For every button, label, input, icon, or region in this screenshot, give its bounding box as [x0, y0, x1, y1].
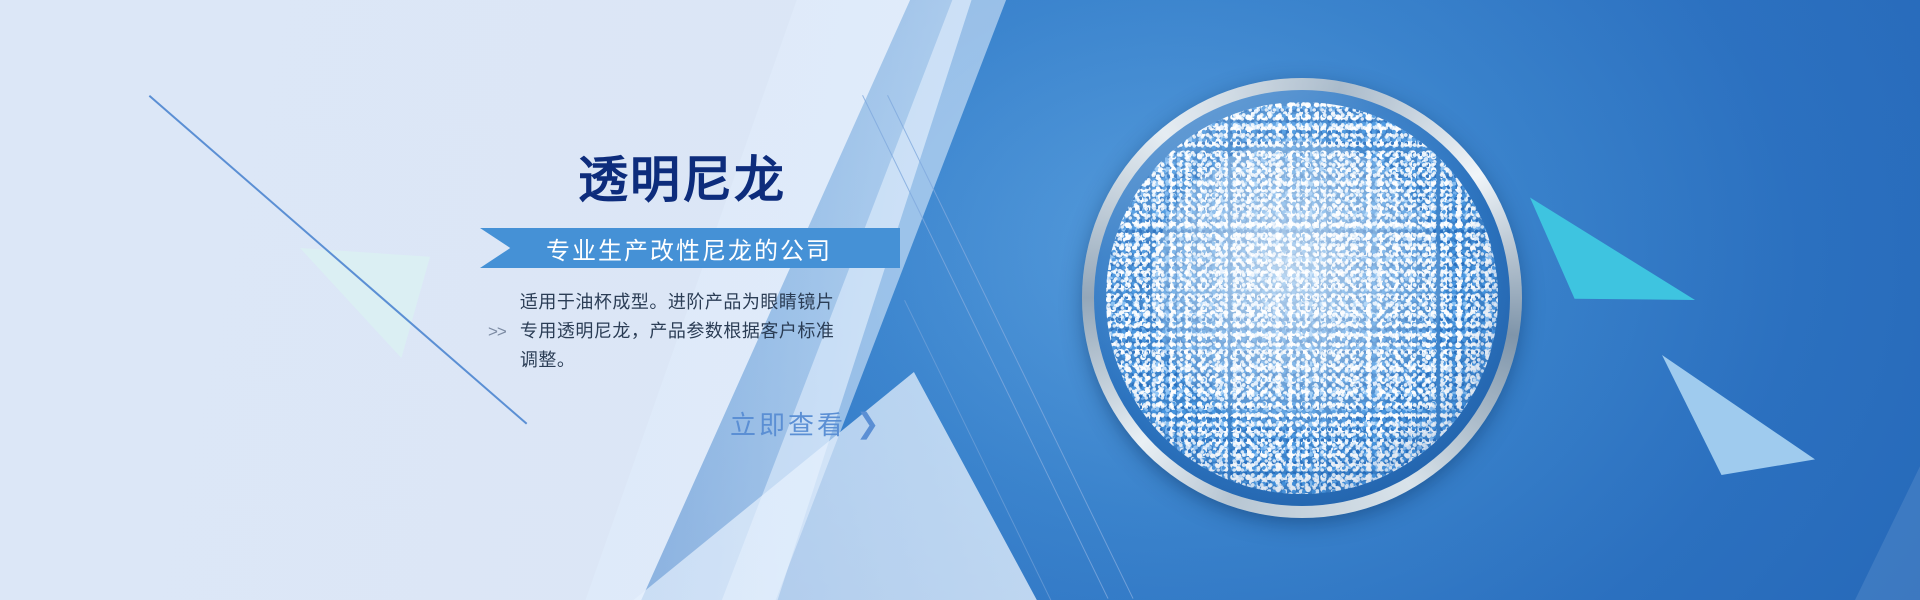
page-title: 透明尼龙: [578, 155, 786, 205]
view-now-link[interactable]: 立即查看 ❯: [730, 405, 882, 442]
dish-rim: [1082, 78, 1522, 518]
description-block: >> 适用于油杯成型。进阶产品为眼睛镜片专用透明尼龙，产品参数根据客户标准调整。: [488, 288, 850, 375]
product-hero-banner: 透明尼龙 专业生产改性尼龙的公司 >> 适用于油杯成型。进阶产品为眼睛镜片专用透…: [0, 0, 1920, 600]
dish-interior-vignette: [1094, 90, 1510, 506]
dish-interior: [1094, 90, 1510, 506]
view-now-label: 立即查看: [730, 405, 846, 442]
tagline-ribbon-label: 专业生产改性尼龙的公司: [546, 231, 832, 266]
tagline-ribbon: 专业生产改性尼龙的公司: [480, 228, 900, 268]
double-chevron-icon: >>: [488, 322, 506, 342]
chevron-right-icon: ❯: [856, 410, 882, 438]
product-image-petri-dish: [1082, 78, 1522, 518]
description-text: 适用于油杯成型。进阶产品为眼睛镜片专用透明尼龙，产品参数根据客户标准调整。: [520, 288, 850, 375]
